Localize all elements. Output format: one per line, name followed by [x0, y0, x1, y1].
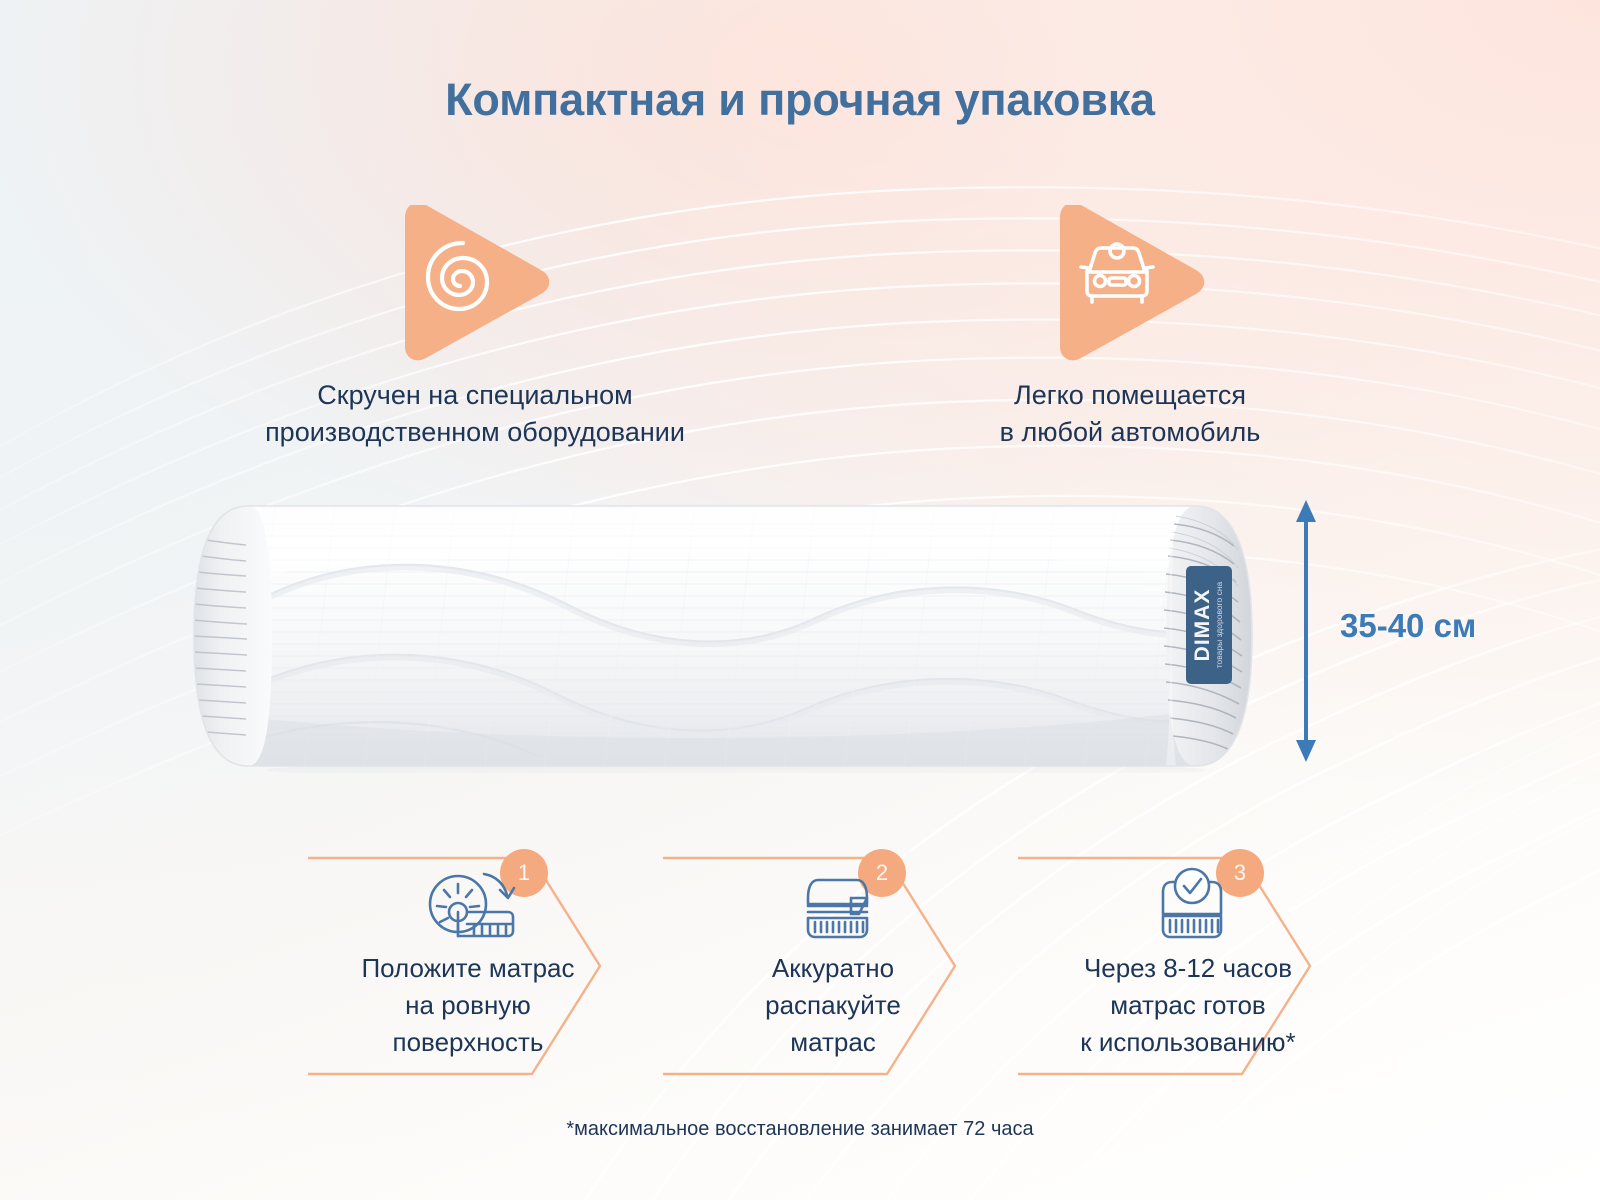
feature-icon-container: [1040, 205, 1220, 365]
page-title: Компактная и прочная упаковка: [0, 74, 1600, 126]
brand-tag-name: DIMAX: [1191, 589, 1214, 662]
step-label: Положите матрас на ровную поверхность: [318, 950, 618, 1061]
step-label: Аккуратно распакуйте матрас: [683, 950, 983, 1061]
step-icon-container: [322, 862, 622, 951]
steps-container: 1: [0, 840, 1600, 1100]
brand-tag: DIMAX товары здорового сна: [1186, 566, 1232, 684]
brand-tag-tagline: товары здорового сна: [1214, 581, 1224, 668]
feature-label: Скручен на специальном производственном …: [175, 377, 775, 452]
feature-label: Легко помещается в любой автомобиль: [880, 377, 1380, 452]
dimension-label: 35-40 см: [1340, 607, 1476, 645]
feature-block-spiral: Скручен на специальном производственном …: [175, 205, 775, 452]
step-item-2[interactable]: 2 Аккуратно распакуйте матрас: [655, 840, 1015, 1092]
mattress-check-icon: [1142, 862, 1238, 946]
double-arrow-vertical-icon: [1286, 500, 1326, 762]
step-item-1[interactable]: 1: [300, 840, 660, 1092]
step-icon-container: [685, 862, 985, 951]
spiral-roll-icon: [385, 205, 565, 365]
car-icon: [1040, 205, 1220, 365]
step-item-3[interactable]: 3 Через 8-12 часов матрас готов к исполь…: [1010, 840, 1370, 1092]
step-icon-container: [1040, 862, 1340, 951]
mattress-unwrap-icon: [787, 862, 883, 946]
feature-block-car: Легко помещается в любой автомобиль: [880, 205, 1380, 452]
rolled-mattress-image: DIMAX товары здорового сна: [176, 498, 1271, 773]
step-label: Через 8-12 часов матрас готов к использо…: [1038, 950, 1338, 1061]
rolled-mattress-unroll-icon: [424, 862, 520, 946]
feature-icon-container: [385, 205, 565, 365]
footnote: *максимальное восстановление занимает 72…: [0, 1118, 1600, 1141]
